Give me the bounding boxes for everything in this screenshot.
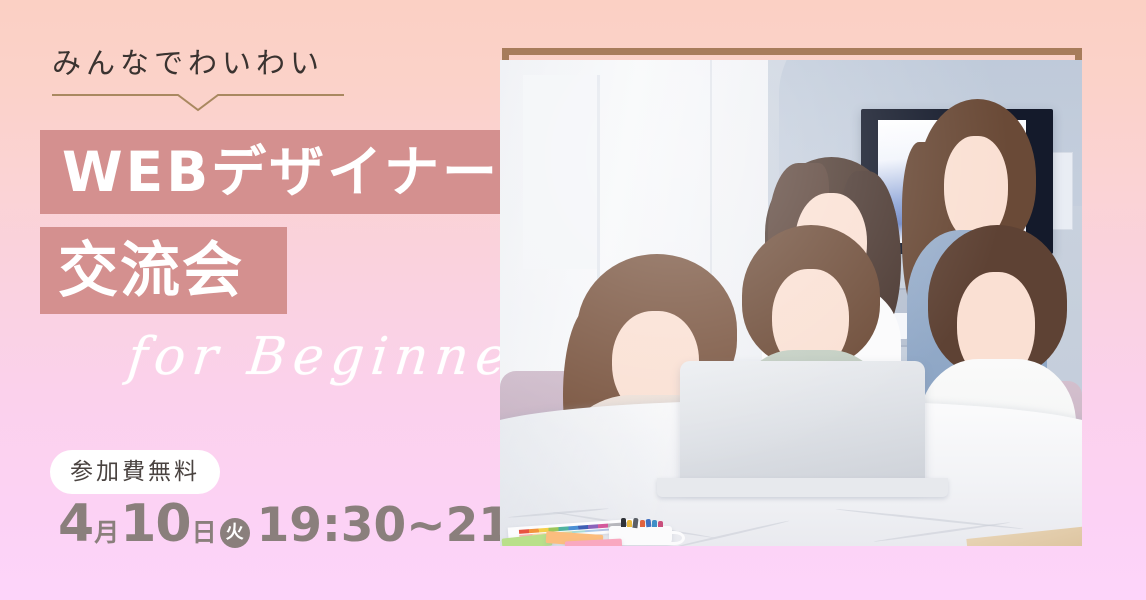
marble-vein	[508, 508, 608, 519]
lead-copy: みんなでわいわい	[52, 46, 352, 81]
lead-copy-text: みんなでわいわい	[52, 46, 352, 81]
pen-cluster	[619, 517, 666, 528]
photo-scene	[500, 60, 1082, 546]
title-box-primary: WEBデザイナー	[40, 130, 570, 214]
title-line-1: WEBデザイナー	[40, 145, 500, 200]
script-subtitle: for Beginner	[125, 327, 549, 387]
marble-vein	[835, 508, 1023, 530]
laptop	[680, 361, 924, 487]
event-day-unit: 日	[191, 520, 218, 545]
free-entry-badge-label: 参加費無料	[70, 461, 200, 484]
event-photo	[500, 60, 1082, 546]
lead-underline-icon	[52, 90, 344, 112]
door-panel	[523, 75, 599, 269]
title-box-secondary: 交流会	[40, 227, 287, 314]
event-day-number: 10	[120, 498, 190, 550]
pen	[621, 518, 626, 527]
event-month-unit: 月	[93, 520, 120, 545]
pen	[645, 519, 651, 528]
event-banner: みんなでわいわい WEBデザイナー 交流会 for Beginner 参加費無料…	[0, 0, 1146, 600]
event-day-of-week-badge: 火	[220, 518, 250, 548]
pen	[633, 517, 639, 527]
event-month-number: 4	[58, 498, 93, 550]
laptop-base	[657, 478, 948, 497]
pen	[652, 520, 657, 527]
pen	[627, 520, 632, 528]
pen	[658, 521, 663, 527]
title-line-2: 交流会	[40, 241, 244, 301]
free-entry-badge: 参加費無料	[50, 450, 220, 494]
pen	[640, 520, 645, 527]
